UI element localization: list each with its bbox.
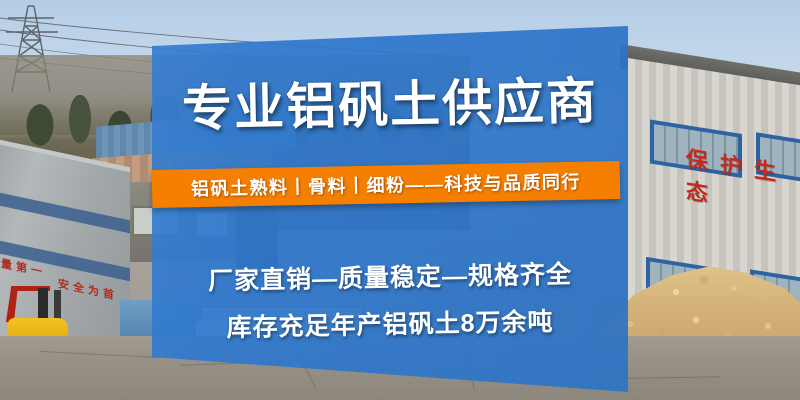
right-building-sign-text: 保护生态 [686,146,788,208]
left-building-sign-2: 安全为首 [58,275,118,304]
page-title: 专业铝矾土供应商 [152,75,629,134]
product-tagline-text: 铝矾土熟料丨骨料丨细粉——科技与品质同行 [191,168,581,201]
bauxite-supplier-banner: 质量第一 安全为首 保护生态 [0,0,800,400]
